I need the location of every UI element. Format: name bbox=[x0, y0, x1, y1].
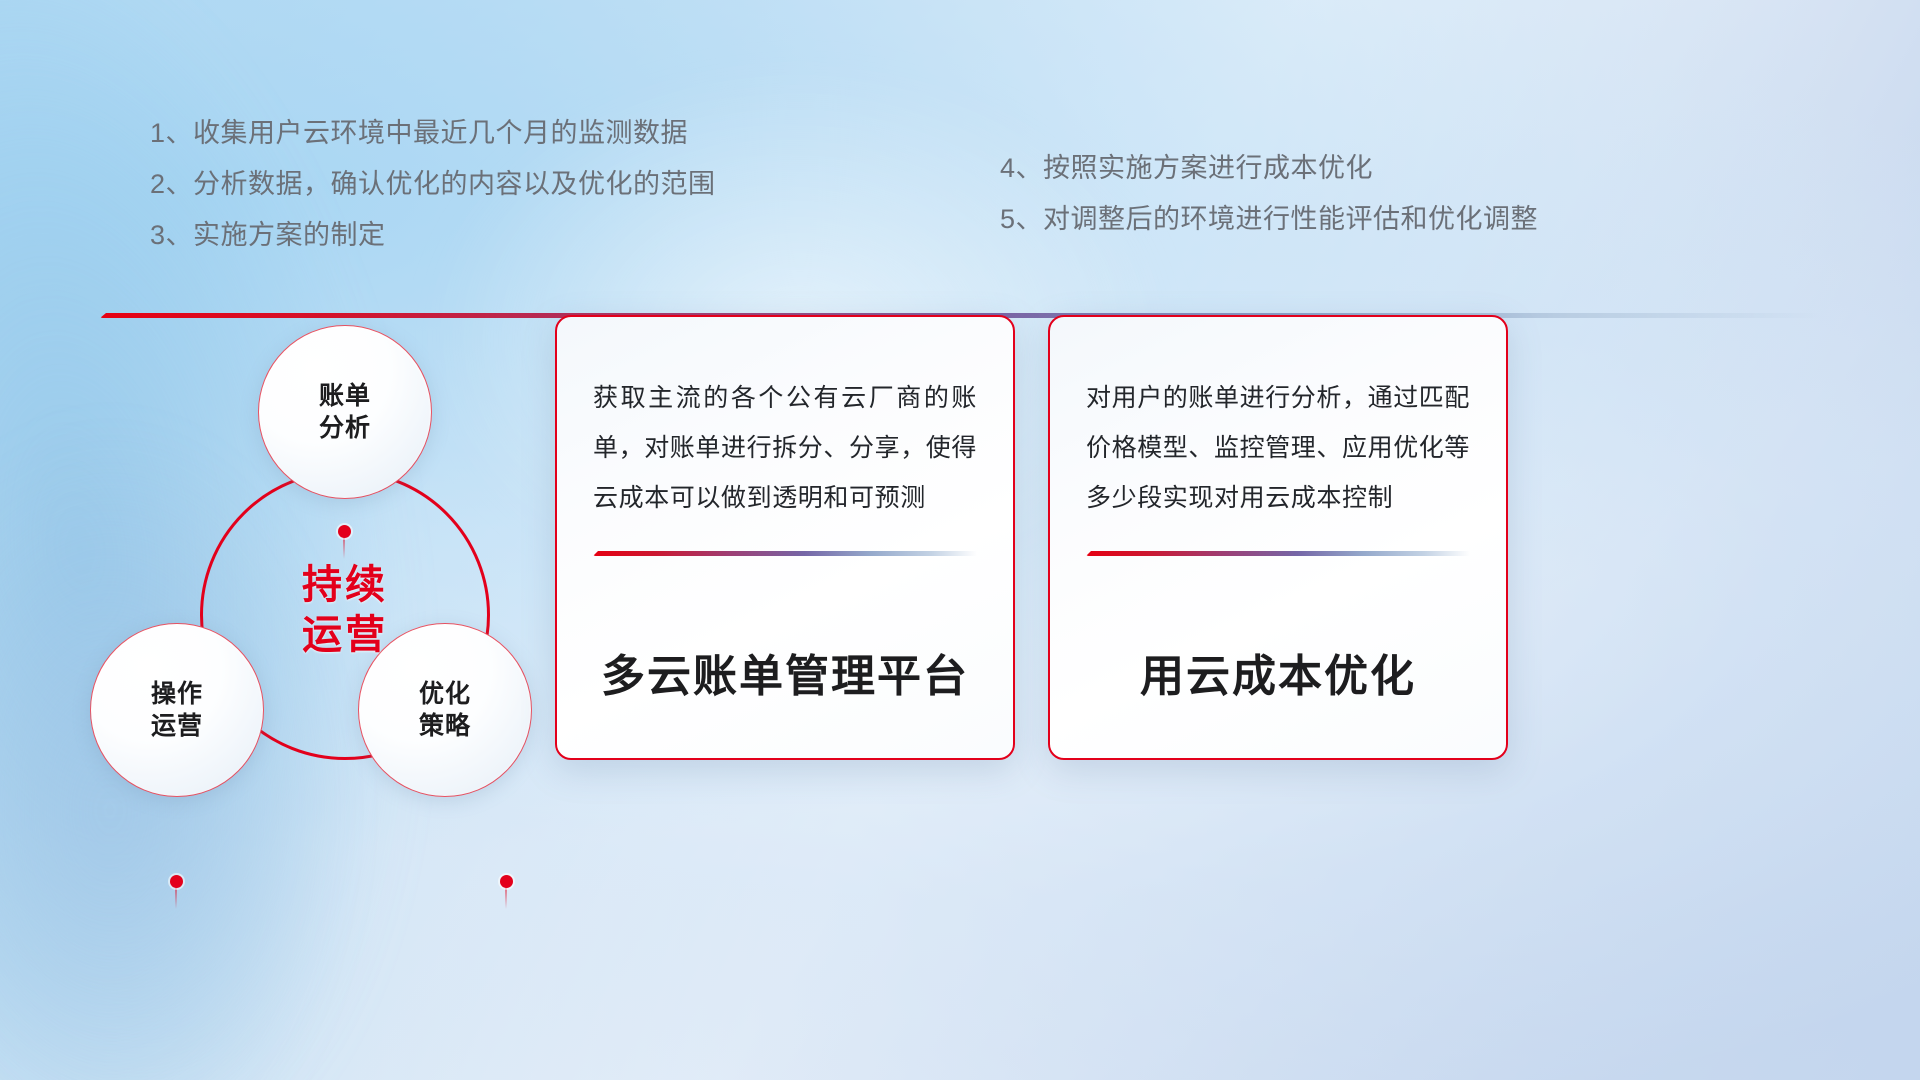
steps-right-column: 4、按照实施方案进行成本优化 5、对调整后的环境进行性能评估和优化调整 bbox=[1000, 155, 1538, 233]
step-item-2: 2、分析数据，确认优化的内容以及优化的范围 bbox=[150, 171, 716, 198]
bubble-label-line2: 运营 bbox=[151, 710, 203, 742]
bubble-label-line2: 分析 bbox=[319, 412, 371, 444]
card-body-text: 对用户的账单进行分析，通过匹配价格模型、监控管理、应用优化等多少段实现对用云成本… bbox=[1086, 373, 1470, 523]
bubble-label-line1: 优化 bbox=[419, 678, 471, 710]
card-title: 多云账单管理平台 bbox=[593, 640, 977, 704]
card-divider-rule bbox=[1086, 551, 1470, 556]
diagram-center-line1: 持续 bbox=[255, 560, 435, 610]
diagram-bubble-operations[interactable]: 操作 运营 bbox=[90, 623, 264, 797]
step-item-4: 4、按照实施方案进行成本优化 bbox=[1000, 155, 1538, 182]
diagram-marker-tail-top bbox=[343, 537, 345, 559]
diagram-marker-dot-top bbox=[338, 525, 351, 538]
bubble-label-line1: 账单 bbox=[319, 380, 371, 412]
bubble-label-line1: 操作 bbox=[151, 678, 203, 710]
steps-left-column: 1、收集用户云环境中最近几个月的监测数据 2、分析数据，确认优化的内容以及优化的… bbox=[150, 120, 716, 249]
diagram-marker-dot-right bbox=[500, 875, 513, 888]
diagram-marker-tail-right bbox=[505, 887, 507, 909]
step-item-3: 3、实施方案的制定 bbox=[150, 222, 716, 249]
card-title: 用云成本优化 bbox=[1086, 640, 1470, 704]
step-item-5: 5、对调整后的环境进行性能评估和优化调整 bbox=[1000, 206, 1538, 233]
diagram-center-line2: 运营 bbox=[255, 610, 435, 660]
step-item-1: 1、收集用户云环境中最近几个月的监测数据 bbox=[150, 120, 716, 147]
diagram-marker-tail-left bbox=[175, 887, 177, 909]
diagram-center-label: 持续 运营 bbox=[255, 560, 435, 660]
bubble-label-line2: 策略 bbox=[419, 710, 471, 742]
diagram-bubble-bill-analysis[interactable]: 账单 分析 bbox=[258, 325, 432, 499]
diagram-marker-dot-left bbox=[170, 875, 183, 888]
card-cloud-cost-optimization[interactable]: 对用户的账单进行分析，通过匹配价格模型、监控管理、应用优化等多少段实现对用云成本… bbox=[1048, 315, 1508, 760]
card-multicloud-billing-platform[interactable]: 获取主流的各个公有云厂商的账单，对账单进行拆分、分享，使得云成本可以做到透明和可… bbox=[555, 315, 1015, 760]
card-divider-rule bbox=[593, 551, 977, 556]
card-body-text: 获取主流的各个公有云厂商的账单，对账单进行拆分、分享，使得云成本可以做到透明和可… bbox=[593, 373, 977, 523]
